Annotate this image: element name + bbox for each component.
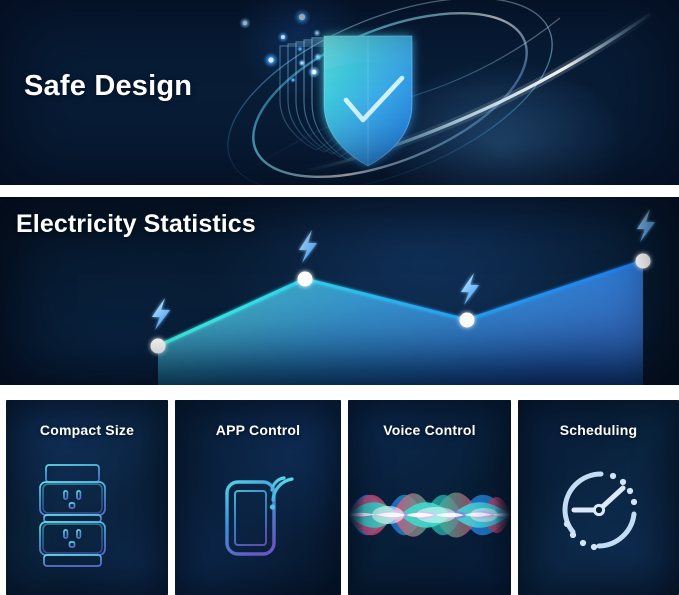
feature-panel-compact-size-title: Compact Size xyxy=(6,422,168,438)
feature-panel-compact-size[interactable]: Compact Size xyxy=(6,400,168,595)
outlet-dimension-icon xyxy=(6,458,168,574)
product-feature-collage: Safe Design xyxy=(0,0,679,595)
clock-dotted-icon xyxy=(518,458,679,562)
smartphone-wifi-icon xyxy=(175,458,341,568)
feature-panel-row: Compact Size xyxy=(0,400,679,595)
feature-panel-scheduling[interactable]: Scheduling xyxy=(518,400,679,595)
banner-safe-design: Safe Design xyxy=(0,0,679,185)
banner-statistics-title: Electricity Statistics xyxy=(16,210,256,239)
feature-panel-app-control[interactable]: APP Control xyxy=(175,400,341,595)
feature-panel-app-control-title: APP Control xyxy=(175,422,341,438)
feature-panel-voice-control-title: Voice Control xyxy=(348,422,511,438)
feature-panel-scheduling-title: Scheduling xyxy=(518,422,679,438)
banner-safe-design-title: Safe Design xyxy=(24,70,192,103)
voice-waveform-icon xyxy=(348,460,511,570)
feature-panel-voice-control[interactable]: Voice Control xyxy=(348,400,511,595)
